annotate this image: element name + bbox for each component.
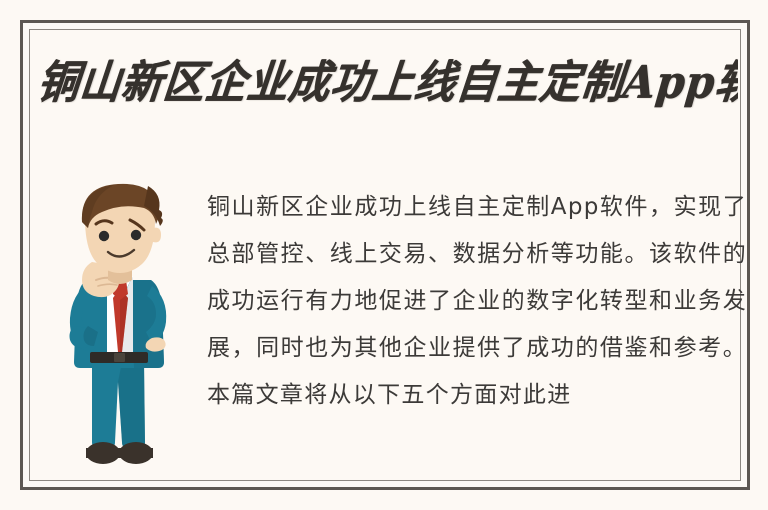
page-title: 铜山新区企业成功上线自主定制App软件 [38, 61, 738, 106]
thinking-businessman-illustration [52, 176, 188, 480]
article-body: 铜山新区企业成功上线自主定制App软件，实现了总部管控、线上交易、数据分析等功能… [207, 184, 747, 419]
poster-canvas: 铜山新区企业成功上线自主定制App软件 [0, 0, 768, 510]
title-area: 铜山新区企业成功上线自主定制App软件 [38, 50, 738, 116]
